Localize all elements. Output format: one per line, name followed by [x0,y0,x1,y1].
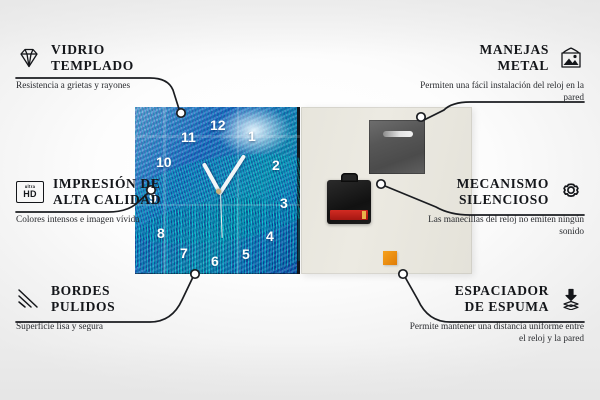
callout-mecanismo-silencioso: MECANISMO SILENCIOSO Las manecillas del … [408,176,584,238]
grid-line [237,107,239,274]
clock-numeral: 7 [180,246,188,260]
title-line-2: SILENCIOSO [459,192,549,207]
callout-description: Colores intensos e imagen vívida [16,214,168,226]
clock-center-cap [216,189,221,194]
clock-numeral: 8 [157,226,165,240]
clock-numeral: 2 [272,158,280,172]
callout-header: MANEJAS METAL [412,42,584,74]
callout-impresion-alta-calidad: ultra HD IMPRESIÓN DE ALTA CALIDAD Color… [16,176,168,226]
movement-hanging-tab [341,173,358,182]
callout-vidrio-templado: VIDRIO TEMPLADO Resistencia a grietas y … [16,42,166,92]
clock-numeral: 4 [266,229,274,243]
callout-header: MECANISMO SILENCIOSO [408,176,584,208]
clock-numeral: 3 [280,196,288,210]
title-line-1: MECANISMO [457,176,549,191]
callout-header: BORDES PULIDOS [16,283,176,315]
clock-numeral: 6 [211,254,219,268]
callout-description: Resistencia a grietas y rayones [16,80,166,92]
title-line-2: TEMPLADO [51,58,134,73]
quartz-movement [327,180,371,224]
ultra-hd-large-text: HD [23,190,36,199]
callout-header: ultra HD IMPRESIÓN DE ALTA CALIDAD [16,176,168,208]
ultra-hd-icon: ultra HD [16,181,44,203]
title-line-2: PULIDOS [51,299,115,314]
title-line-2: DE ESPUMA [464,299,549,314]
title-line-1: ESPACIADOR [455,283,549,298]
clock-numeral: 5 [242,247,250,261]
foam-spacer [383,251,397,265]
callout-header: ESPACIADOR DE ESPUMA [404,283,584,315]
callout-description: Permiten una fácil instalación del reloj… [412,80,584,105]
callout-title: MECANISMO SILENCIOSO [457,176,549,208]
metal-hanger-plate [369,120,425,174]
clock-numeral: 10 [156,155,172,169]
diamond-icon [16,47,42,69]
callout-title: ESPACIADOR DE ESPUMA [455,283,549,315]
clock-numeral: 11 [181,130,196,144]
title-line-2: METAL [497,58,549,73]
infographic-canvas: 12 1 2 3 4 5 6 7 8 9 10 11 [0,0,600,400]
title-line-1: IMPRESIÓN DE [53,176,160,191]
callout-description: Permite mantener una distancia uniforme … [404,321,584,346]
callout-title: MANEJAS METAL [480,42,549,74]
title-line-1: VIDRIO [51,42,105,57]
callout-description: Las manecillas del reloj no emiten ningú… [408,214,584,239]
clock-numeral: 12 [210,118,226,132]
callout-manejas-metal: MANEJAS METAL Permiten una fácil instala… [412,42,584,104]
battery-terminal [362,211,366,219]
callout-title: IMPRESIÓN DE ALTA CALIDAD [53,176,161,208]
title-line-1: BORDES [51,283,110,298]
gear-icon [558,181,584,203]
polished-edges-icon [16,288,42,310]
callout-bordes-pulidos: BORDES PULIDOS Superficie lisa y segura [16,283,176,333]
foam-spacer-icon [558,288,584,310]
title-line-1: MANEJAS [480,42,549,57]
hanging-frame-icon [558,47,584,69]
grid-line [135,135,300,138]
callout-title: BORDES PULIDOS [51,283,115,315]
callout-espaciador-espuma: ESPACIADOR DE ESPUMA Permite mantener un… [404,283,584,345]
callout-title: VIDRIO TEMPLADO [51,42,134,74]
clock-numeral: 1 [248,129,256,143]
hanger-slot [383,131,413,137]
battery [330,210,368,220]
callout-description: Superficie lisa y segura [16,321,176,333]
title-line-2: ALTA CALIDAD [53,192,161,207]
callout-header: VIDRIO TEMPLADO [16,42,166,74]
